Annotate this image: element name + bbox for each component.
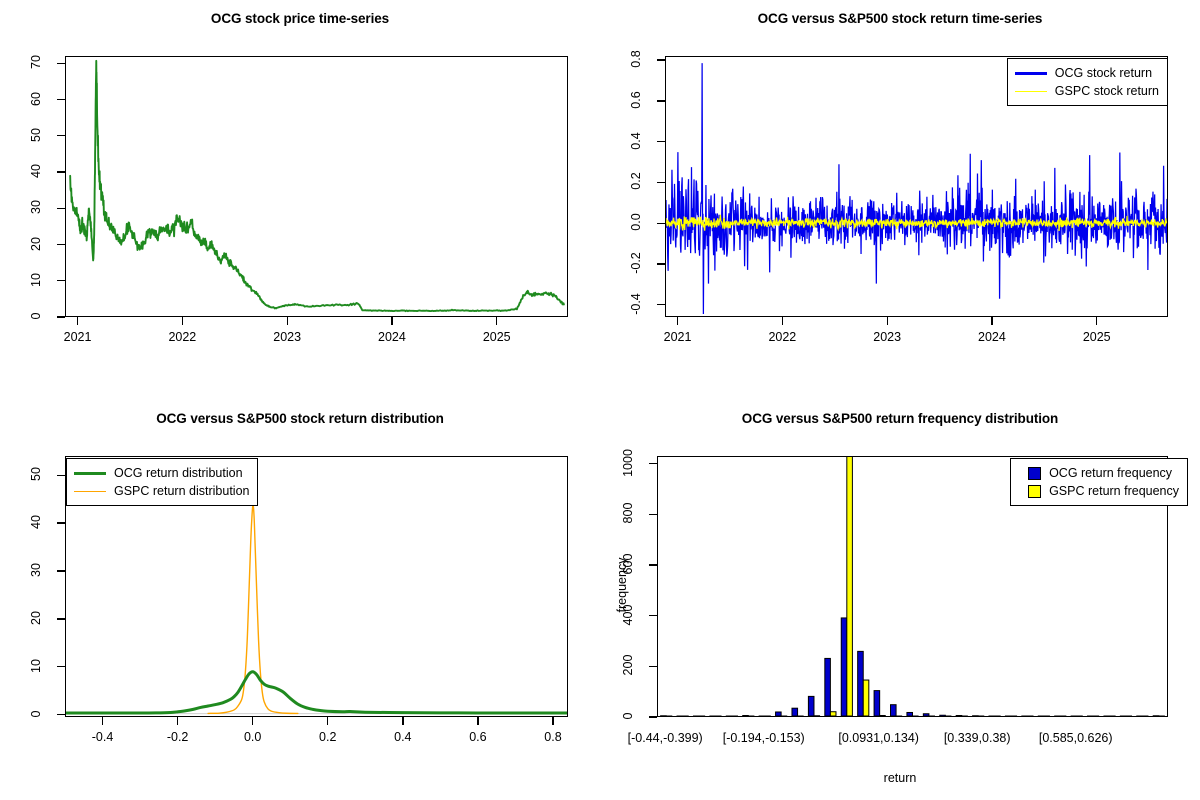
plot-area-top-left bbox=[65, 56, 568, 317]
y-tickmark bbox=[57, 570, 65, 571]
panel-title-top-right: OCG versus S&P500 stock return time-seri… bbox=[600, 11, 1200, 26]
y-tickmark bbox=[657, 141, 665, 142]
x-tick-label: 0.2 bbox=[288, 730, 368, 744]
x-tickmark bbox=[1096, 317, 1097, 325]
ocg-frequency-bar bbox=[907, 712, 913, 716]
x-tick-label: 2024 bbox=[952, 330, 1032, 344]
y-tick-label: 10 bbox=[29, 263, 43, 297]
x-tickmark bbox=[177, 717, 178, 725]
x-tick-label: 2021 bbox=[638, 330, 718, 344]
y-tick-label: 20 bbox=[29, 227, 43, 261]
x-tick-label: 2024 bbox=[352, 330, 432, 344]
legend-item-label: OCG return frequency bbox=[1049, 466, 1172, 480]
x-tickmark bbox=[552, 717, 553, 725]
y-tick-label: 40 bbox=[29, 505, 43, 539]
legend-line-icon bbox=[74, 491, 106, 492]
y-tick-label: 0 bbox=[621, 699, 635, 733]
gspc-frequency-bar bbox=[863, 680, 869, 716]
y-tick-label: 0.4 bbox=[629, 124, 643, 158]
ocg-frequency-bar bbox=[858, 651, 864, 716]
x-tickmark bbox=[252, 717, 253, 725]
y-tick-label: -0.2 bbox=[629, 246, 643, 280]
y-tickmark bbox=[649, 564, 657, 565]
ocg-frequency-bar bbox=[956, 716, 962, 717]
y-tickmark bbox=[57, 316, 65, 317]
ocg-frequency-bar bbox=[923, 714, 929, 716]
y-tickmark bbox=[57, 135, 65, 136]
gspc-frequency-bar bbox=[847, 457, 853, 716]
x-tick-label: [-0.194,-0.153) bbox=[704, 731, 824, 745]
legend-line-icon bbox=[74, 472, 106, 475]
legend-item-label: GSPC return frequency bbox=[1049, 484, 1179, 498]
panel-title-bottom-right: OCG versus S&P500 return frequency distr… bbox=[600, 411, 1200, 426]
x-tickmark bbox=[782, 317, 783, 325]
legend-item-label: OCG return distribution bbox=[114, 466, 243, 480]
y-tickmark bbox=[649, 463, 657, 464]
y-tick-label: 40 bbox=[29, 154, 43, 188]
x-tickmark bbox=[77, 317, 78, 325]
legend-top-right: OCG stock returnGSPC stock return bbox=[1007, 58, 1168, 106]
y-tickmark bbox=[649, 615, 657, 616]
y-tick-label: 0.6 bbox=[629, 83, 643, 117]
legend-item-label: OCG stock return bbox=[1055, 66, 1152, 80]
y-tick-label: -0.4 bbox=[629, 287, 643, 321]
panel-ocg-gspc-return-density: OCG versus S&P500 stock return distribut… bbox=[0, 400, 600, 800]
y-tickmark bbox=[657, 223, 665, 224]
y-tickmark bbox=[57, 618, 65, 619]
y-tickmark bbox=[57, 280, 65, 281]
y-tickmark bbox=[57, 522, 65, 523]
y-tickmark bbox=[649, 716, 657, 717]
legend-swatch-icon bbox=[1028, 467, 1041, 480]
ocg-frequency-bar bbox=[874, 691, 880, 716]
panel-ocg-price-timeseries: OCG stock price time-series 010203040506… bbox=[0, 0, 600, 400]
x-tick-label: 2025 bbox=[1057, 330, 1137, 344]
legend-item-label: GSPC stock return bbox=[1055, 84, 1159, 98]
legend-bottom-right: OCG return frequencyGSPC return frequenc… bbox=[1010, 458, 1188, 506]
x-tick-label: 0.4 bbox=[363, 730, 443, 744]
legend-bottom-left: OCG return distributionGSPC return distr… bbox=[66, 458, 258, 506]
y-tick-label: 0.2 bbox=[629, 164, 643, 198]
panel-ocg-gspc-return-timeseries: OCG versus S&P500 stock return time-seri… bbox=[600, 0, 1200, 400]
x-tickmark bbox=[477, 717, 478, 725]
legend-swatch-icon bbox=[1028, 485, 1041, 498]
legend-item: GSPC return frequency bbox=[1018, 482, 1179, 500]
ocg-frequency-bar bbox=[891, 705, 897, 716]
y-tick-label: 60 bbox=[29, 82, 43, 116]
y-tickmark bbox=[57, 171, 65, 172]
y-tickmark bbox=[657, 59, 665, 60]
x-tick-label: 2023 bbox=[247, 330, 327, 344]
y-tickmark bbox=[57, 244, 65, 245]
y-tickmark bbox=[57, 475, 65, 476]
legend-item: OCG return distribution bbox=[74, 464, 249, 482]
y-tickmark bbox=[657, 100, 665, 101]
y-tickmark bbox=[649, 666, 657, 667]
y-tickmark bbox=[649, 514, 657, 515]
x-tick-label: 0.6 bbox=[438, 730, 518, 744]
x-tick-label: 2021 bbox=[38, 330, 118, 344]
legend-item: GSPC stock return bbox=[1015, 82, 1159, 100]
y-tickmark bbox=[57, 99, 65, 100]
y-tick-label: 200 bbox=[621, 648, 635, 682]
ocg-frequency-bar bbox=[808, 696, 814, 716]
gspc-density-curve bbox=[208, 504, 298, 713]
x-tickmark bbox=[402, 717, 403, 725]
gspc-frequency-bar bbox=[880, 716, 886, 717]
y-tickmark bbox=[657, 304, 665, 305]
y-tick-label: 20 bbox=[29, 601, 43, 635]
ocg-frequency-bar bbox=[792, 708, 798, 716]
y-tick-label: 30 bbox=[29, 190, 43, 224]
y-tick-label: 800 bbox=[621, 496, 635, 530]
x-tick-label: 2025 bbox=[457, 330, 537, 344]
y-tick-label: 0.8 bbox=[629, 42, 643, 76]
panel-title-bottom-left: OCG versus S&P500 stock return distribut… bbox=[0, 411, 600, 426]
x-axis-title-bottom-right: return bbox=[600, 771, 1200, 785]
x-tickmark bbox=[391, 317, 392, 325]
panel-title-top-left: OCG stock price time-series bbox=[0, 11, 600, 26]
ocg-frequency-bar bbox=[940, 715, 946, 716]
x-tickmark bbox=[991, 317, 992, 325]
legend-line-icon bbox=[1015, 91, 1047, 92]
ocg-density-curve bbox=[66, 672, 567, 713]
y-tick-label: 70 bbox=[29, 45, 43, 79]
y-tick-label: 0 bbox=[29, 697, 43, 731]
y-tick-label: 50 bbox=[29, 118, 43, 152]
legend-item: GSPC return distribution bbox=[74, 482, 249, 500]
ocg-price-line bbox=[70, 61, 564, 311]
x-tick-label: 2023 bbox=[847, 330, 927, 344]
legend-item: OCG return frequency bbox=[1018, 464, 1179, 482]
x-tick-label: [0.585,0.626) bbox=[1016, 731, 1136, 745]
x-tickmark bbox=[182, 317, 183, 325]
x-tick-label: -0.2 bbox=[138, 730, 218, 744]
legend-item: OCG stock return bbox=[1015, 64, 1159, 82]
gspc-frequency-bar bbox=[830, 712, 836, 716]
y-tick-label: 10 bbox=[29, 649, 43, 683]
y-tick-label: 1000 bbox=[621, 446, 635, 480]
y-tick-label: 50 bbox=[29, 457, 43, 491]
y-axis-title-bottom-right: frequency bbox=[615, 545, 629, 625]
y-tickmark bbox=[57, 714, 65, 715]
x-tickmark bbox=[496, 317, 497, 325]
y-tickmark bbox=[57, 63, 65, 64]
x-tick-label: 2022 bbox=[742, 330, 822, 344]
y-tick-label: 0 bbox=[29, 299, 43, 333]
x-tick-label: 0.0 bbox=[213, 730, 293, 744]
y-tick-label: 30 bbox=[29, 553, 43, 587]
ocg-frequency-bar bbox=[841, 618, 847, 716]
y-tickmark bbox=[57, 208, 65, 209]
y-tickmark bbox=[657, 263, 665, 264]
x-tick-label: 0.8 bbox=[513, 730, 593, 744]
y-tickmark bbox=[57, 666, 65, 667]
r-multi-panel-figure: OCG stock price time-series 010203040506… bbox=[0, 0, 1200, 800]
ocg-frequency-bar bbox=[825, 658, 831, 716]
legend-line-icon bbox=[1015, 72, 1047, 75]
legend-item-label: GSPC return distribution bbox=[114, 484, 249, 498]
panel-ocg-gspc-return-frequency: OCG versus S&P500 return frequency distr… bbox=[600, 400, 1200, 800]
ocg-frequency-bar bbox=[743, 716, 749, 717]
x-tickmark bbox=[287, 317, 288, 325]
x-tickmark bbox=[677, 317, 678, 325]
x-tick-label: -0.4 bbox=[63, 730, 143, 744]
x-tickmark bbox=[887, 317, 888, 325]
y-tick-label: 0.0 bbox=[629, 205, 643, 239]
ocg-frequency-bar bbox=[776, 712, 782, 716]
x-tick-label: 2022 bbox=[142, 330, 222, 344]
x-tickmark bbox=[327, 717, 328, 725]
x-tickmark bbox=[102, 717, 103, 725]
y-tickmark bbox=[657, 182, 665, 183]
